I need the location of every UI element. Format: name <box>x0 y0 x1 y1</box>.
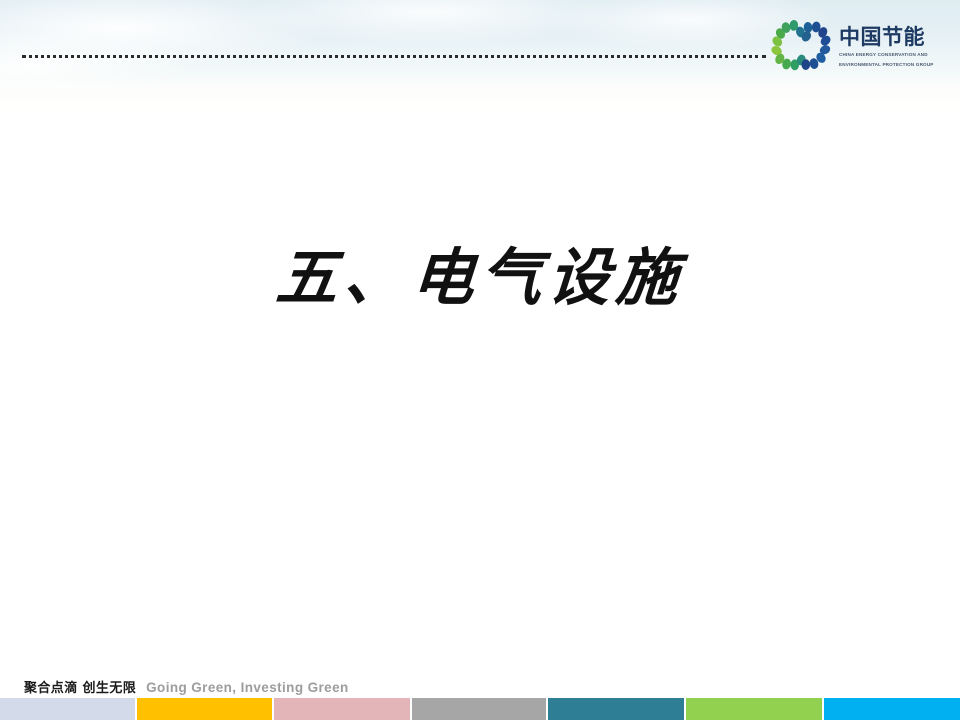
logo-wordmark: 中国节能 CHINA ENERGY CONSERVATION AND ENVIR… <box>839 24 934 69</box>
segment-gold <box>137 698 272 720</box>
slogan-english: Going Green, Investing Green <box>146 680 349 695</box>
segment-pale-blue <box>0 698 135 720</box>
cecep-infinity-dots-icon <box>770 19 832 73</box>
header-dotted-divider <box>22 55 766 58</box>
segment-gray <box>412 698 546 720</box>
segment-pink <box>274 698 410 720</box>
presentation-slide: 中国节能 CHINA ENERGY CONSERVATION AND ENVIR… <box>0 0 960 720</box>
logo-company-name-en-line1: CHINA ENERGY CONSERVATION AND <box>839 51 934 58</box>
segment-green <box>686 698 822 720</box>
logo-company-name-cn: 中国节能 <box>839 26 934 49</box>
footer-color-ribbon <box>0 698 960 720</box>
segment-teal <box>548 698 684 720</box>
slogan-chinese: 聚合点滴 创生无限 <box>24 677 136 696</box>
segment-cyan <box>824 698 960 720</box>
slide-title: 五、电气设施 <box>0 243 960 312</box>
logo-company-name-en-line2: ENVIRONMENTAL PROTECTION GROUP <box>839 61 934 68</box>
company-logo: 中国节能 CHINA ENERGY CONSERVATION AND ENVIR… <box>770 16 952 76</box>
footer-slogan: 聚合点滴 创生无限 Going Green, Investing Green <box>24 677 349 696</box>
